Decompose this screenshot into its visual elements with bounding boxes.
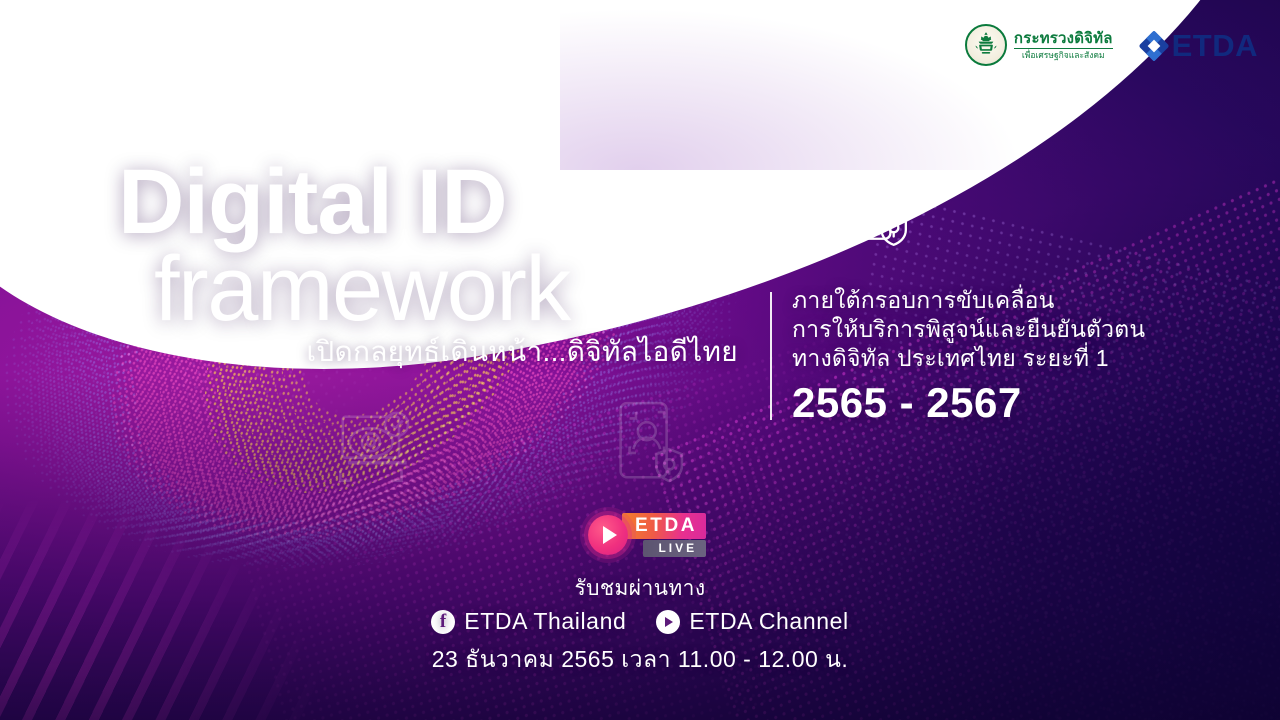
ministry-tagline: เพื่อเศรษฐกิจและสังคม	[1022, 49, 1105, 60]
hero-title-line1: Digital ID	[118, 158, 818, 246]
promo-banner: กระทรวงดิจิทัล เพื่อเศรษฐกิจและสังคม ETD	[0, 0, 1280, 720]
channel-facebook-label: ETDA Thailand	[464, 608, 626, 635]
hero-title-line2: framework	[154, 244, 818, 334]
live-badge-status: LIVE	[643, 540, 706, 557]
face-recognition-phone-icon	[840, 168, 912, 252]
vertical-divider	[770, 292, 772, 420]
watch-via-label: รับชมผ่านทาง	[0, 572, 1280, 605]
description-line-1: ภายใต้กรอบการขับเคลื่อน	[792, 286, 1212, 315]
play-icon	[588, 515, 628, 555]
description-block: ภายใต้กรอบการขับเคลื่อน การให้บริการพิสู…	[792, 286, 1212, 427]
channel-row: f ETDA Thailand ETDA Channel	[0, 608, 1280, 635]
event-datetime: 23 ธันวาคม 2565 เวลา 11.00 - 12.00 น.	[0, 642, 1280, 678]
channel-youtube-label: ETDA Channel	[689, 608, 848, 635]
etda-logo: ETDA	[1139, 30, 1258, 61]
channel-youtube: ETDA Channel	[656, 608, 848, 635]
garuda-seal-icon	[965, 24, 1007, 66]
hero-title-block: Digital ID framework เปิดกลยุทธ์เดินหน้า…	[118, 158, 818, 374]
logo-row: กระทรวงดิจิทัล เพื่อเศรษฐกิจและสังคม ETD	[965, 24, 1258, 66]
description-line-2: การให้บริการพิสูจน์และยืนยันตัวตน	[792, 315, 1212, 344]
live-badge-brand: ETDA	[622, 513, 706, 539]
description-line-3: ทางดิจิทัล ประเทศไทย ระยะที่ 1	[792, 344, 1212, 373]
etda-diamond-icon	[1139, 31, 1167, 59]
channel-facebook: f ETDA Thailand	[431, 608, 626, 635]
etda-wordmark: ETDA	[1172, 30, 1258, 61]
ministry-name: กระทรวงดิจิทัล	[1014, 31, 1113, 49]
youtube-icon	[656, 610, 680, 634]
facebook-icon: f	[431, 610, 455, 634]
description-years: 2565 - 2567	[792, 379, 1212, 427]
ministry-logo: กระทรวงดิจิทัล เพื่อเศรษฐกิจและสังคม	[965, 24, 1113, 66]
etda-live-badge: ETDA LIVE	[588, 515, 706, 555]
